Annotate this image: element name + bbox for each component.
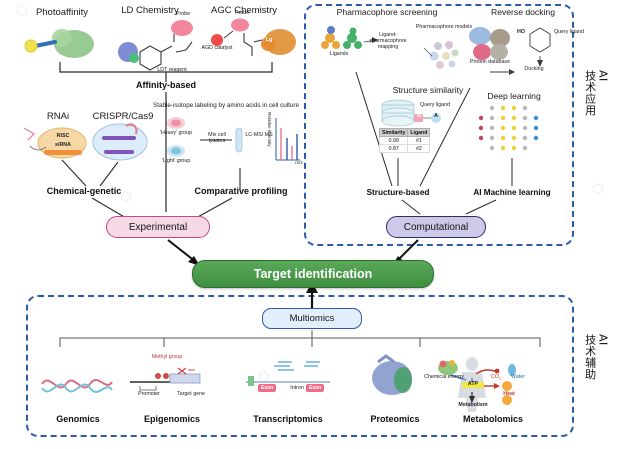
annotation-atp: ATP	[462, 382, 484, 388]
category-experimental[interactable]: Experimental	[106, 216, 210, 238]
omics-label-metabolomics: Metabolomics	[440, 414, 546, 424]
annotation-target-gene: Target gene	[168, 392, 214, 398]
annotation-exon-1: Exon	[258, 376, 276, 394]
annotation-query-ligand-docking: Query ligand	[552, 30, 586, 36]
annotation-metabolism: Metabolism	[448, 403, 498, 409]
group-label-chemical-genetic: Chemical-genetic	[14, 186, 154, 196]
method-title-deep-learning: Deep learning	[466, 92, 562, 102]
annotation-query-ligand-similarity: Query ligand	[414, 103, 456, 109]
ligand-id: #2	[408, 145, 430, 153]
annotation-risc: RISC	[46, 134, 80, 140]
annotation-mz: m/z	[292, 160, 306, 165]
annotation-exon-2: Exon	[306, 376, 324, 394]
similarity-value: 0.99	[380, 137, 408, 145]
method-title-rnai: RNAi	[28, 112, 88, 123]
ligand-id: #1	[408, 137, 430, 145]
annotation-leaving-group: Lg	[262, 38, 276, 44]
annotation-water: Water	[506, 375, 530, 381]
annotation-heat: Heat	[498, 392, 520, 398]
annotation-chemical-energy: Chemical energy	[424, 375, 464, 381]
table-row: 0.99 #1	[380, 137, 430, 145]
annotation-sirna: siRNA	[46, 143, 80, 149]
annotation-co2: CO2	[486, 375, 506, 382]
method-title-pharmacophore-screening: Pharmacophore screening	[312, 8, 462, 18]
omics-label-genomics: Genomics	[36, 414, 120, 424]
annotation-ho: HO	[514, 30, 528, 36]
annotation-docking: Docking	[516, 67, 552, 73]
annotation-ldt-probe: Probe	[168, 12, 198, 18]
annotation-promoter: Promoter	[128, 392, 170, 398]
method-title-reverse-docking: Reverse docking	[468, 8, 578, 18]
table-row: 0.87 #2	[380, 145, 430, 153]
method-title-crispr-cas9: CRISPR/Cas9	[80, 112, 166, 123]
group-label-ai-machine-learning: AI Machine learning	[452, 188, 572, 197]
group-label-comparative-profiling: Comparative profiling	[168, 186, 314, 196]
annotation-pharmacophore-models: Pharmacophore models	[414, 25, 474, 31]
annotation-heavy-group: 'Heavy' group	[152, 131, 200, 137]
annotation-ligand-b: B	[415, 114, 423, 120]
similarity-table-header-similarity: Similarity	[380, 129, 408, 137]
annotation-mix-cell-lysates: Mix cell lysates	[201, 133, 233, 145]
annotation-light-group: 'Light' group	[152, 159, 200, 165]
omics-label-transcriptomics: Transcriptomics	[232, 414, 344, 424]
annotation-protein-database: Protein database	[466, 60, 514, 66]
annotation-agc-probe: Probe	[228, 11, 256, 17]
annotation-ligand-pharmacophore-mapping: Ligand- pharmacophore mapping	[360, 33, 416, 50]
annotation-agd-catalyst: AGD catalyst	[200, 46, 234, 52]
annotation-ldt-reagent: LDT reagent	[144, 68, 200, 74]
similarity-value: 0.87	[380, 145, 408, 153]
annotation-ligands: Ligands	[318, 52, 360, 58]
group-label-affinity-based: Affinity-based	[106, 80, 226, 90]
similarity-table: Similarity Ligand 0.99 #1 0.87 #2	[379, 128, 430, 153]
category-computational[interactable]: Computational	[386, 216, 486, 238]
method-title-silac: Stable-isotope labeling by amino acids i…	[150, 102, 302, 109]
target-identification-bar[interactable]: Target identification	[192, 260, 434, 288]
annotation-methyl-group: Methyl group	[146, 355, 188, 361]
figure-canvas: AI技术应用 AI技术辅助 Photoaffinity LD Chemistry…	[0, 0, 624, 449]
omics-label-epigenomics: Epigenomics	[124, 414, 220, 424]
omics-label-proteomics: Proteomics	[352, 414, 438, 424]
group-label-structure-based: Structure-based	[346, 188, 450, 197]
multiomics-hub[interactable]: Multiomics	[262, 308, 362, 329]
similarity-table-header-ligand: Ligand	[408, 129, 430, 137]
annotation-relative-intensity: Relative intensity	[262, 112, 272, 147]
annotation-ligand-a: A	[432, 114, 440, 120]
